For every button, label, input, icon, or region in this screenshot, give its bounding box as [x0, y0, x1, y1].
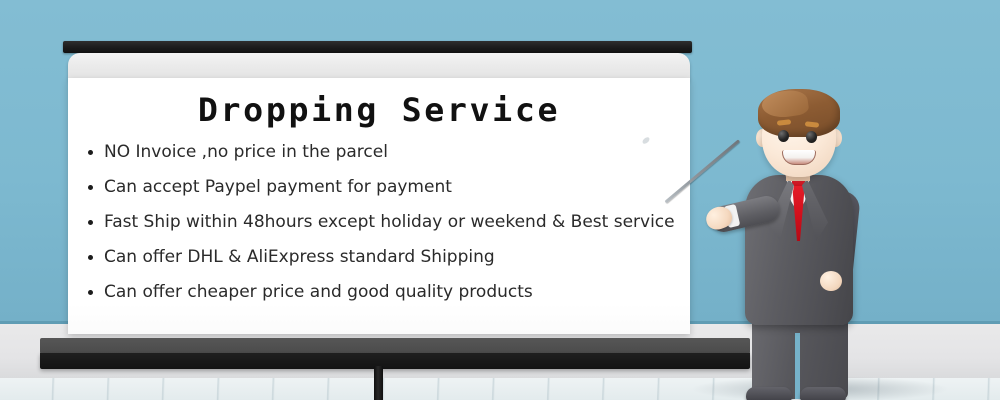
screen-bottom-bar-upper	[40, 338, 750, 354]
presenter-eye-left	[778, 130, 789, 142]
bullet-list: NO Invoice ,no price in the parcel Can a…	[86, 142, 686, 317]
list-item: Can offer cheaper price and good quality…	[86, 282, 686, 303]
list-item: Can accept Paypel payment for payment	[86, 177, 686, 198]
screen-tripod-leg	[374, 366, 383, 400]
screen-bottom-bar-lower	[40, 353, 750, 369]
list-item: Can offer DHL & AliExpress standard Ship…	[86, 247, 686, 268]
slide-title: Dropping Service	[56, 91, 703, 129]
presenter-shoe-right	[800, 387, 846, 400]
presenter-leg-gap	[795, 333, 800, 399]
screen-top-bar	[63, 41, 692, 53]
bullet-text: NO Invoice ,no price in the parcel	[104, 142, 388, 162]
bullet-text: Can offer DHL & AliExpress standard Ship…	[104, 247, 495, 267]
bullet-text: Can accept Paypel payment for payment	[104, 177, 452, 197]
slide-content: Dropping Service NO Invoice ,no price in…	[68, 78, 690, 334]
bullet-text: Fast Ship within 48hours except holiday …	[104, 212, 675, 232]
list-item: Fast Ship within 48hours except holiday …	[86, 212, 686, 233]
presenter-eye-right	[806, 131, 817, 143]
list-item: NO Invoice ,no price in the parcel	[86, 142, 686, 163]
presenter-hand-right	[820, 271, 842, 291]
businessman-presenter	[690, 75, 890, 395]
bullet-text: Can offer cheaper price and good quality…	[104, 282, 533, 302]
presentation-scene: Dropping Service NO Invoice ,no price in…	[0, 0, 1000, 400]
presenter-shoe-left	[746, 387, 792, 400]
